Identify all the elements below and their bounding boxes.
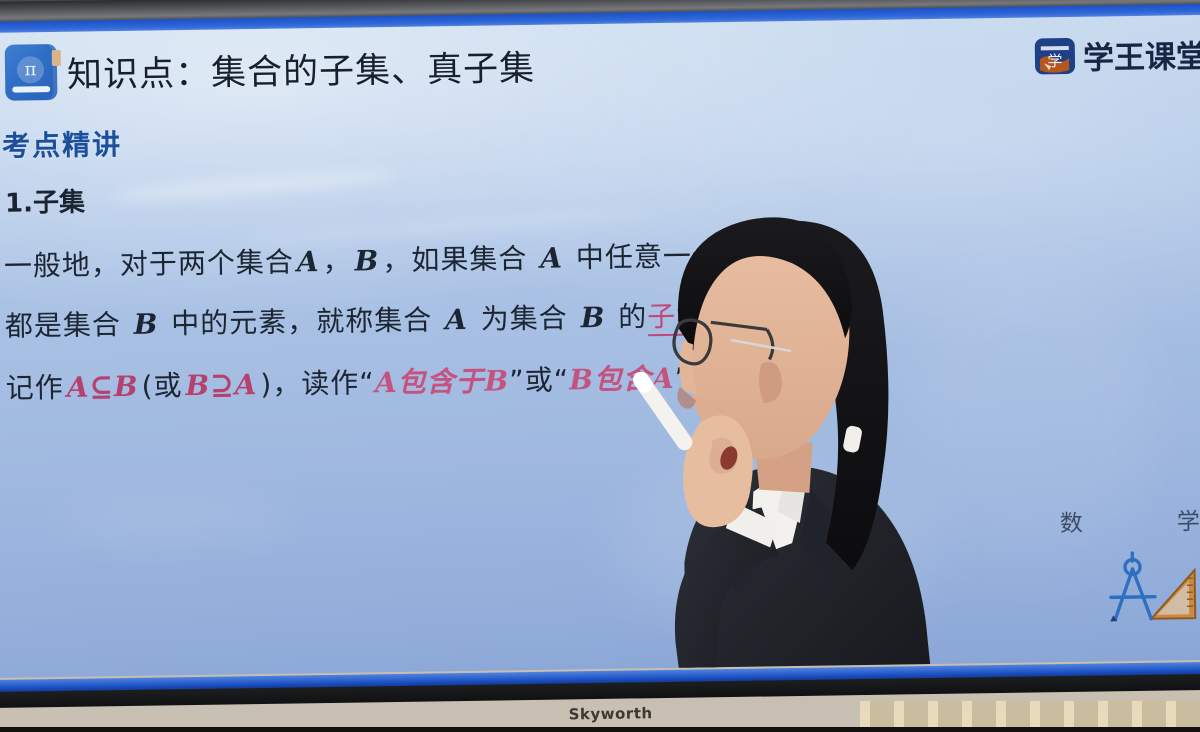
lesson-slide: π 知识点：集合的子集、真子集 考点精讲 1.子集 一般地，对于两个集合A，B，…: [0, 15, 1200, 678]
text-run: 都是集合: [5, 308, 131, 343]
reading-phrase: A包含于B: [375, 364, 510, 399]
section-heading: 1.子集: [5, 182, 86, 220]
text-run: ，: [705, 299, 735, 332]
subject-watermark: 数 学: [1056, 502, 1200, 624]
body-line-3: 记作A⊆B(或B⊇A)，读作“A包含于B”或“B包含A”): [5, 356, 702, 406]
math-var: B: [351, 244, 382, 277]
slide-subtitle: 考点精讲: [2, 123, 123, 165]
compass-and-set-square-icon: [1092, 548, 1200, 624]
reading-phrase: B包含A: [569, 362, 675, 397]
svg-text:学: 学: [1047, 52, 1062, 70]
body-line-2: 都是集合 B 中的元素，就称集合 A 为集合 B 的子集，: [4, 294, 734, 345]
highlighted-term: 子集: [647, 299, 706, 336]
text-run: ”): [674, 361, 702, 394]
text-run: 中任意一个元素: [566, 238, 779, 274]
xuewang-badge-icon: 学: [1034, 34, 1077, 77]
watermark-char-2: 学: [1177, 502, 1200, 536]
math-notation: A⊆B: [63, 370, 141, 404]
slide-title-row: π 知识点：集合的子集、真子集: [5, 37, 536, 101]
math-var: A: [442, 303, 471, 336]
text-run: ，如果集合: [382, 242, 537, 277]
book-pi-icon: π: [5, 44, 58, 101]
text-run: 为集合: [471, 301, 578, 336]
text-run: (或: [141, 369, 182, 403]
watermark-char-1: 数: [1060, 504, 1084, 538]
text-run: )，读作“: [260, 366, 375, 401]
math-var: A: [294, 245, 323, 278]
math-var: A: [537, 241, 566, 274]
course-logo: 学 学王课堂: [1034, 31, 1200, 79]
text-run: 一般地，对于两个集合: [4, 245, 294, 282]
body-line-1: 一般地，对于两个集合A，B，如果集合 A 中任意一个元素: [4, 233, 779, 284]
text-run: ，: [322, 245, 352, 278]
text-run: ”或“: [509, 363, 569, 397]
course-logo-text: 学王课堂: [1083, 31, 1200, 78]
math-var: B: [130, 307, 161, 340]
interactive-display: π 知识点：集合的子集、真子集 考点精讲 1.子集 一般地，对于两个集合A，B，…: [0, 0, 1200, 708]
math-var: B: [577, 301, 608, 334]
text-run: 记作: [5, 371, 63, 405]
text-run: 的: [608, 300, 647, 334]
page-title: 知识点：集合的子集、真子集: [67, 39, 536, 97]
math-notation: B⊇A: [182, 368, 260, 402]
text-run: 中的元素，就称集合: [161, 303, 442, 340]
display-panel: π 知识点：集合的子集、真子集 考点精讲 1.子集 一般地，对于两个集合A，B，…: [0, 15, 1200, 678]
